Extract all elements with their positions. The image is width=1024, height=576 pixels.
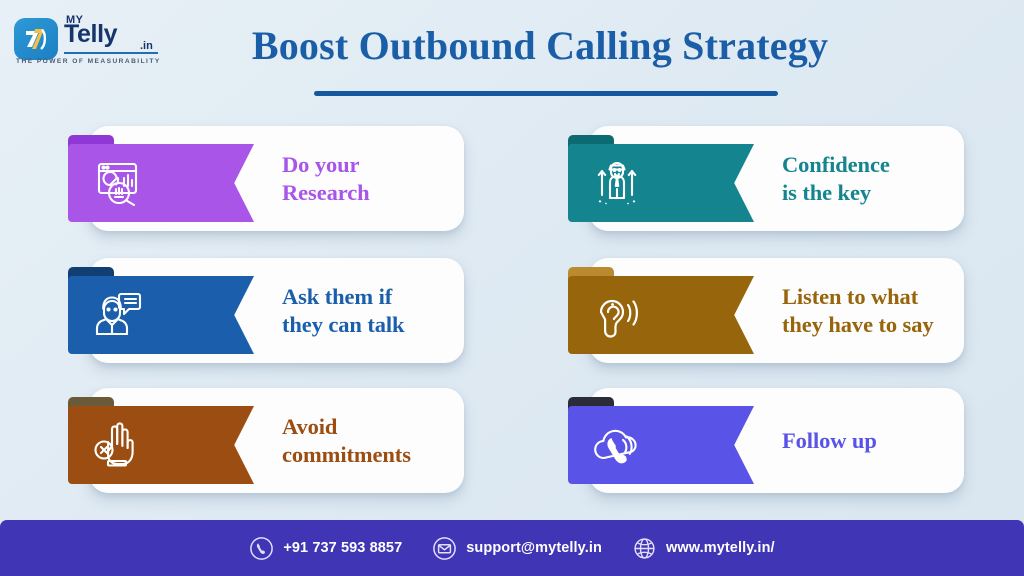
contact-phone-text: +91 737 593 8857 xyxy=(283,540,402,556)
card-label-line2: they can talk xyxy=(282,311,460,338)
card-label-line2: commitments xyxy=(282,441,460,468)
contact-phone[interactable]: +91 737 593 8857 xyxy=(249,536,402,561)
contact-footer: +91 737 593 8857 support@mytelly.in www.… xyxy=(0,520,1024,576)
envelope-icon xyxy=(432,536,457,561)
card-label: Follow up xyxy=(782,388,960,493)
seven-z-logo-icon xyxy=(14,18,58,60)
logo-tagline: THE POWER OF MEASURABILITY xyxy=(16,58,161,65)
logo-underline xyxy=(64,52,158,54)
card-label: Avoid commitments xyxy=(282,388,460,493)
logo-telly-text: Telly xyxy=(64,22,117,47)
brand-logo[interactable]: MY Telly .in THE POWER OF MEASURABILITY xyxy=(14,12,164,74)
hand-stop-cross-icon xyxy=(88,416,146,474)
globe-icon xyxy=(632,536,657,561)
ear-soundwaves-icon xyxy=(588,286,646,344)
tip-card[interactable]: Avoid commitments xyxy=(64,388,464,493)
card-label-line1: Avoid xyxy=(282,413,460,440)
contact-website[interactable]: www.mytelly.in/ xyxy=(632,536,775,561)
phone-icon xyxy=(249,536,274,561)
card-label-line1: Ask them if xyxy=(282,283,460,310)
tip-card[interactable]: Ask them if they can talk xyxy=(64,258,464,363)
card-label: Ask them if they can talk xyxy=(282,258,460,363)
card-label: Confidence is the key xyxy=(782,126,960,231)
card-label-line2: Research xyxy=(282,179,460,206)
tip-card[interactable]: Follow up xyxy=(564,388,964,493)
contact-email[interactable]: support@mytelly.in xyxy=(432,536,602,561)
tip-card[interactable]: Confidence is the key xyxy=(564,126,964,231)
tip-card[interactable]: Do your Research xyxy=(64,126,464,231)
confident-person-arrows-icon xyxy=(588,154,646,212)
page-title: Boost Outbound Calling Strategy xyxy=(180,22,900,69)
contact-website-text: www.mytelly.in/ xyxy=(666,540,775,556)
card-label-line1: Do your xyxy=(282,151,460,178)
dashboard-search-icon xyxy=(88,154,146,212)
card-label-line1: Follow up xyxy=(782,427,960,454)
tips-grid: Do your Research xyxy=(0,118,1024,514)
header: MY Telly .in THE POWER OF MEASURABILITY … xyxy=(0,0,1024,110)
card-label-line2: is the key xyxy=(782,179,960,206)
title-underline xyxy=(314,91,778,96)
tip-card[interactable]: Listen to what they have to say xyxy=(564,258,964,363)
cloud-phone-icon xyxy=(588,416,646,474)
person-speech-bubble-icon xyxy=(88,286,146,344)
card-label-line2: they have to say xyxy=(782,311,960,338)
card-label-line1: Listen to what xyxy=(782,283,960,310)
card-label: Listen to what they have to say xyxy=(782,258,960,363)
card-label-line1: Confidence xyxy=(782,151,960,178)
card-label: Do your Research xyxy=(282,126,460,231)
contact-email-text: support@mytelly.in xyxy=(466,540,602,556)
logo-tld-text: .in xyxy=(140,40,153,52)
